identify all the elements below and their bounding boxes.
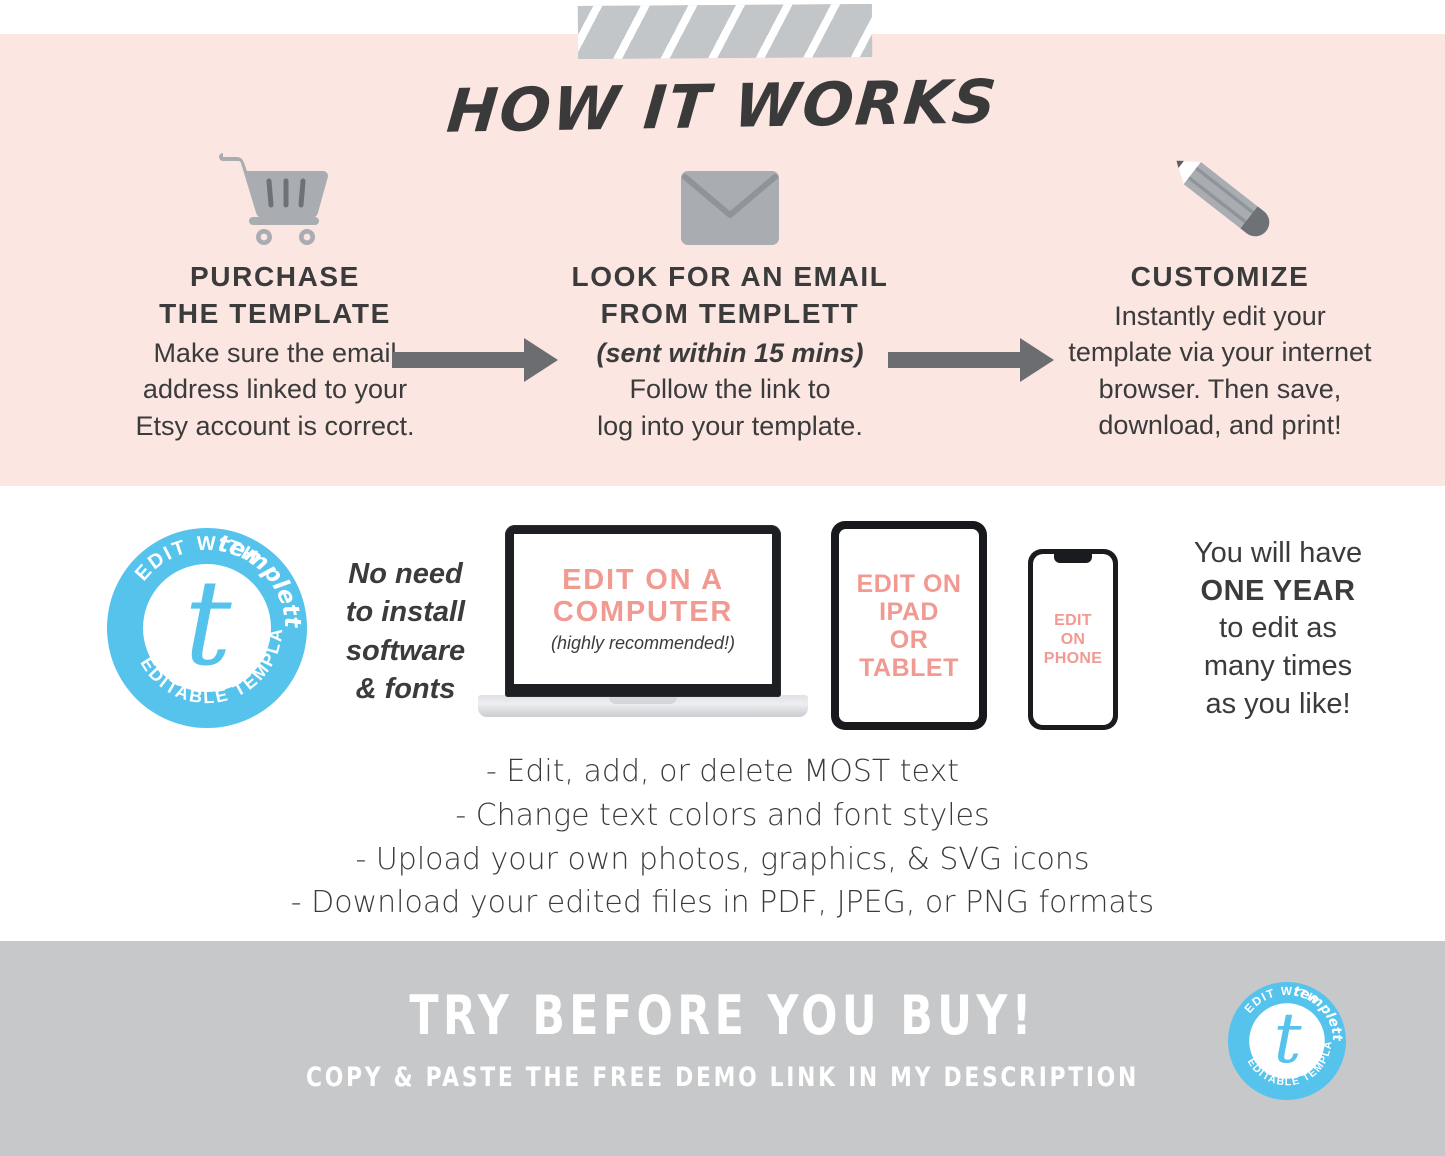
badge-footer-brand-text: templett: [1292, 983, 1345, 1041]
laptop-lid: EDIT ON A COMPUTER (highly recommended!): [505, 525, 781, 697]
one-year-text: You will have ONE YEAR to edit as many t…: [1128, 535, 1428, 723]
step-purchase-body-l3: Etsy account is correct.: [135, 411, 414, 441]
list-item: - Change text colors and font styles: [0, 794, 1445, 838]
step-purchase-heading: PURCHASE THE TEMPLATE: [95, 259, 455, 333]
tablet-screen-text: EDIT ON IPAD OR TABLET: [857, 570, 962, 682]
pencil-icon: [1010, 150, 1430, 245]
step-customize-body-l1: Instantly edit your: [1114, 301, 1326, 331]
tablet-screen: EDIT ON IPAD OR TABLET: [839, 529, 979, 722]
no-need-l4: & fonts: [356, 673, 456, 705]
tablet-text-l3: OR: [890, 626, 929, 654]
infographic-canvas: HOW IT WORKS: [0, 0, 1445, 1156]
tablet-text-l1: EDIT ON: [857, 570, 962, 598]
phone-text-l1: EDIT: [1054, 612, 1092, 629]
no-need-l2: to install: [346, 596, 465, 628]
step-purchase-heading-l2: THE TEMPLATE: [159, 298, 391, 329]
step-customize-body-l3: browser. Then save,: [1099, 374, 1342, 404]
step-email-heading-l2: FROM TEMPLETT: [601, 298, 860, 329]
phone-text-l3: PHONE: [1044, 650, 1102, 667]
step-purchase-heading-l1: PURCHASE: [190, 261, 360, 292]
step-email-heading-l1: LOOK FOR AN EMAIL: [571, 261, 888, 292]
no-need-l3: software: [346, 635, 465, 667]
steps-row: PURCHASE THE TEMPLATE Make sure the emai…: [0, 150, 1445, 470]
tablet-text-l2: IPAD: [879, 598, 939, 626]
step-customize-heading: CUSTOMIZE: [1010, 259, 1430, 296]
step-purchase: PURCHASE THE TEMPLATE Make sure the emai…: [95, 150, 455, 444]
tablet-mockup: EDIT ON IPAD OR TABLET: [831, 521, 987, 730]
one-year-bold: ONE YEAR: [1201, 575, 1356, 607]
shopping-cart-icon: [95, 150, 455, 245]
one-year-l3: to edit as: [1219, 612, 1337, 644]
tablet-text-l4: TABLET: [859, 654, 959, 682]
laptop-mockup: EDIT ON A COMPUTER (highly recommended!): [478, 525, 808, 730]
no-need-text: No need to install software & fonts: [333, 555, 478, 708]
footer-subtitle: COPY & PASTE THE FREE DEMO LINK IN MY DE…: [72, 1062, 1373, 1093]
step-email-body-l2: log into your template.: [597, 411, 863, 441]
one-year-l4: many times: [1204, 650, 1352, 682]
phone-text-l2: ON: [1061, 631, 1086, 648]
phone-mockup: EDIT ON PHONE: [1028, 549, 1118, 730]
laptop-title-l2: COMPUTER: [553, 596, 733, 628]
laptop-base: [478, 695, 808, 717]
list-item: - Upload your own photos, graphics, & SV…: [0, 838, 1445, 882]
step-customize-body: Instantly edit your template via your in…: [1010, 298, 1430, 444]
phone-screen: EDIT ON PHONE: [1033, 554, 1113, 725]
washi-tape-icon: [578, 4, 872, 59]
templett-badge-footer: EDIT WITH templett EDITABLE TEMPLATE t: [1228, 982, 1346, 1100]
svg-text:templett: templett: [1292, 983, 1345, 1041]
step-look-for-email: LOOK FOR AN EMAIL FROM TEMPLETT (sent wi…: [505, 150, 955, 444]
footer-title: TRY BEFORE YOU BUY!: [87, 984, 1359, 1047]
laptop-title-l1: EDIT ON A: [562, 564, 724, 596]
step-purchase-body-l2: address linked to your: [143, 374, 407, 404]
step-customize: CUSTOMIZE Instantly edit your template v…: [1010, 150, 1430, 444]
step-customize-body-l4: download, and print!: [1098, 410, 1341, 440]
phone-notch-icon: [1054, 554, 1092, 563]
step-email-body-l1: Follow the link to: [629, 374, 830, 404]
step-email-heading: LOOK FOR AN EMAIL FROM TEMPLETT: [505, 259, 955, 333]
step-purchase-body-l1: Make sure the email: [153, 338, 396, 368]
templett-badge: EDIT WITH templett EDITABLE TEMPLATE t: [107, 528, 307, 728]
one-year-l1: You will have: [1194, 537, 1362, 569]
laptop-screen: EDIT ON A COMPUTER (highly recommended!): [514, 534, 772, 684]
laptop-screen-title: EDIT ON A COMPUTER: [553, 564, 733, 629]
phone-screen-text: EDIT ON PHONE: [1044, 611, 1102, 669]
feature-bullets: - Edit, add, or delete MOST text - Chang…: [0, 750, 1445, 925]
no-need-l1: No need: [348, 558, 462, 590]
step-customize-body-l2: template via your internet: [1068, 337, 1371, 367]
step-customize-heading-l1: CUSTOMIZE: [1131, 261, 1310, 292]
list-item: - Edit, add, or delete MOST text: [0, 750, 1445, 794]
list-item: - Download your edited files in PDF, JPE…: [0, 881, 1445, 925]
laptop-screen-subtitle: (highly recommended!): [551, 633, 735, 654]
envelope-icon: [505, 150, 955, 245]
one-year-l5: as you like!: [1205, 688, 1350, 720]
